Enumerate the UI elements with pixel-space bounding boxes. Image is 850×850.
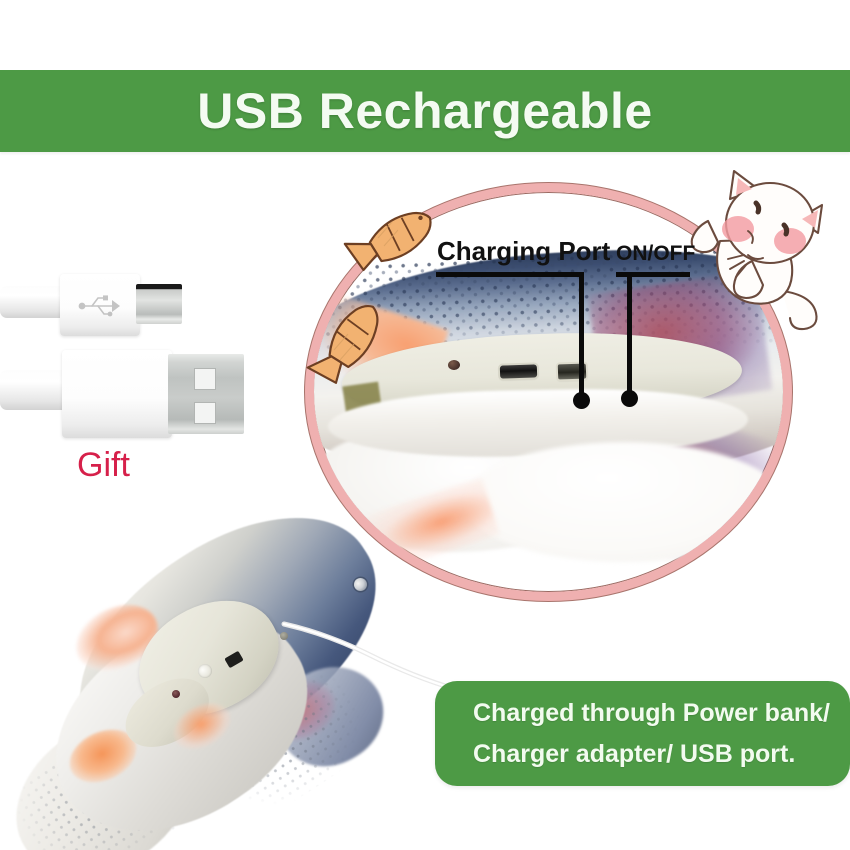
micro-usb-charging-port [500, 364, 537, 378]
usb-trident-icon [78, 290, 122, 320]
cartoon-fish-decoration [300, 190, 485, 420]
cat-cheek-left [722, 216, 754, 242]
pointer-line-charging-port-vertical [579, 272, 584, 400]
micro-usb-metal-tip [136, 284, 182, 324]
cat-eye-right [784, 225, 787, 234]
caption-box: Charged through Power bank/ Charger adap… [435, 681, 850, 786]
usb-a-connector-shell [62, 350, 172, 438]
cat-eye-left [756, 203, 759, 212]
pointer-dot-on-off [621, 390, 638, 407]
callout-label-on-off: ON/OFF [616, 243, 695, 264]
fish-module-led [172, 690, 180, 698]
header-banner: USB Rechargeable [0, 70, 850, 152]
pointer-line-charging-port-horizontal [436, 272, 584, 277]
usb-cable-accessories [0, 262, 275, 462]
caption-line-1: Charged through Power bank/ [473, 693, 850, 734]
cartoon-cat-decoration [686, 163, 848, 338]
page-title: USB Rechargeable [197, 86, 652, 136]
usb-a-contact-lower [194, 402, 216, 424]
pointer-dot-charging-port [573, 392, 590, 409]
usb-a-contact-upper [194, 368, 216, 390]
gift-label: Gift [77, 448, 130, 482]
usb-a-cable-wire [0, 370, 70, 410]
caption-line-2: Charger adapter/ USB port. [473, 734, 850, 775]
pointer-line-on-off-vertical [627, 272, 632, 398]
micro-usb-cable-wire [0, 286, 66, 318]
fish-belly-right [464, 442, 783, 562]
callout-label-charging-port: Charging Port [437, 238, 610, 264]
product-marketing-image: USB Rechargeable Gift [0, 0, 850, 850]
cat-cheek-right [774, 228, 806, 254]
